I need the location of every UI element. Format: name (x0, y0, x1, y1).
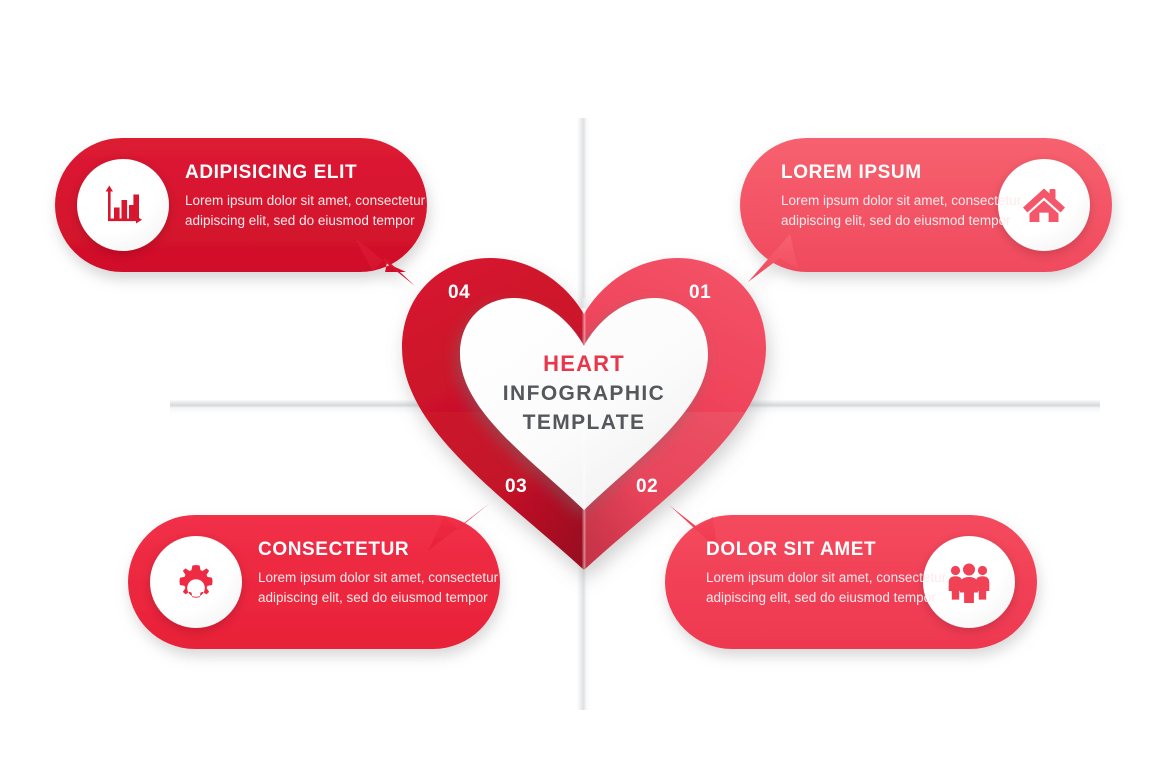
callout-title: ADIPISICING ELIT (185, 162, 427, 184)
callout-body: Lorem ipsum dolor sit amet, consectetur … (258, 568, 500, 608)
gear-icon (171, 557, 221, 607)
callout-body: Lorem ipsum dolor sit amet, consectetur … (706, 568, 958, 608)
callout-text-block: ADIPISICING ELIT Lorem ipsum dolor sit a… (185, 162, 427, 231)
callout-card-lorem-ipsum[interactable]: LOREM IPSUM Lorem ipsum dolor sit amet, … (740, 138, 1112, 272)
heart-number-02: 02 (636, 476, 658, 498)
icon-badge-bar-chart[interactable] (77, 159, 169, 251)
heart-number-01: 01 (689, 282, 711, 304)
callout-body: Lorem ipsum dolor sit amet, consectetur … (781, 191, 1033, 231)
heart-diagram: 04 01 03 02 HEART INFOGRAPHIC TEMPLATE (398, 252, 770, 572)
callout-text-block: LOREM IPSUM Lorem ipsum dolor sit amet, … (781, 162, 1033, 231)
icon-badge-gear[interactable] (150, 536, 242, 628)
heart-number-04: 04 (448, 282, 470, 304)
bar-chart-icon (100, 182, 146, 228)
callout-title: LOREM IPSUM (781, 162, 1033, 184)
infographic-canvas: ADIPISICING ELIT Lorem ipsum dolor sit a… (0, 0, 1160, 772)
callout-body: Lorem ipsum dolor sit amet, consectetur … (185, 191, 427, 231)
heart-number-03: 03 (505, 476, 527, 498)
callout-card-adipisicing-elit[interactable]: ADIPISICING ELIT Lorem ipsum dolor sit a… (55, 138, 427, 272)
